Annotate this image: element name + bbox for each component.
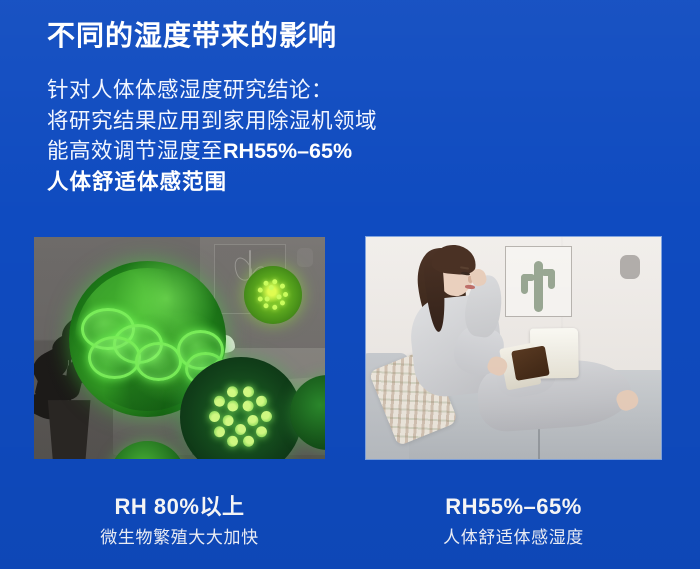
open-book bbox=[498, 326, 581, 393]
intro-line-2: 将研究结果应用到家用除湿机领域 bbox=[47, 106, 377, 137]
intro-line-1: 针对人体体感湿度研究结论： bbox=[47, 75, 377, 106]
caption-title: RH55%–65% bbox=[366, 494, 661, 520]
page-title: 不同的湿度带来的影响 bbox=[47, 19, 337, 52]
woman-reading bbox=[366, 237, 661, 459]
caption-high-humidity: RH 80%以上 微生物繁殖大大加快 bbox=[34, 494, 325, 549]
intro-humidity-range: RH55%–65% bbox=[223, 139, 352, 163]
caption-comfort-humidity: RH55%–65% 人体舒适体感湿度 bbox=[366, 494, 661, 549]
intro-line-4: 人体舒适体感范围 bbox=[47, 167, 377, 198]
caption-subtitle: 人体舒适体感湿度 bbox=[366, 527, 661, 549]
wall-speaker-icon bbox=[297, 248, 313, 267]
bacteria-spikes bbox=[244, 266, 302, 324]
bright-room-scene bbox=[366, 237, 661, 459]
panel-comfort-humidity-image bbox=[366, 237, 661, 459]
intro-line-3-prefix: 能高效调节湿度至 bbox=[47, 139, 223, 163]
caption-title: RH 80%以上 bbox=[34, 494, 325, 520]
bacteria-cell bbox=[88, 336, 141, 379]
humidity-infographic: 不同的湿度带来的影响 针对人体体感湿度研究结论： 将研究结果应用到家用除湿机领域… bbox=[0, 0, 700, 569]
intro-line-3: 能高效调节湿度至RH55%–65% bbox=[47, 136, 377, 167]
bacteria-cell bbox=[135, 342, 182, 381]
dim-room-scene bbox=[34, 237, 325, 459]
bacteria-sphere-small bbox=[244, 266, 302, 324]
plant-pot bbox=[45, 400, 93, 459]
caption-subtitle: 微生物繁殖大大加快 bbox=[34, 527, 325, 549]
intro-paragraph: 针对人体体感湿度研究结论： 将研究结果应用到家用除湿机领域 能高效调节湿度至RH… bbox=[47, 75, 377, 197]
panel-high-humidity-image bbox=[34, 237, 325, 459]
